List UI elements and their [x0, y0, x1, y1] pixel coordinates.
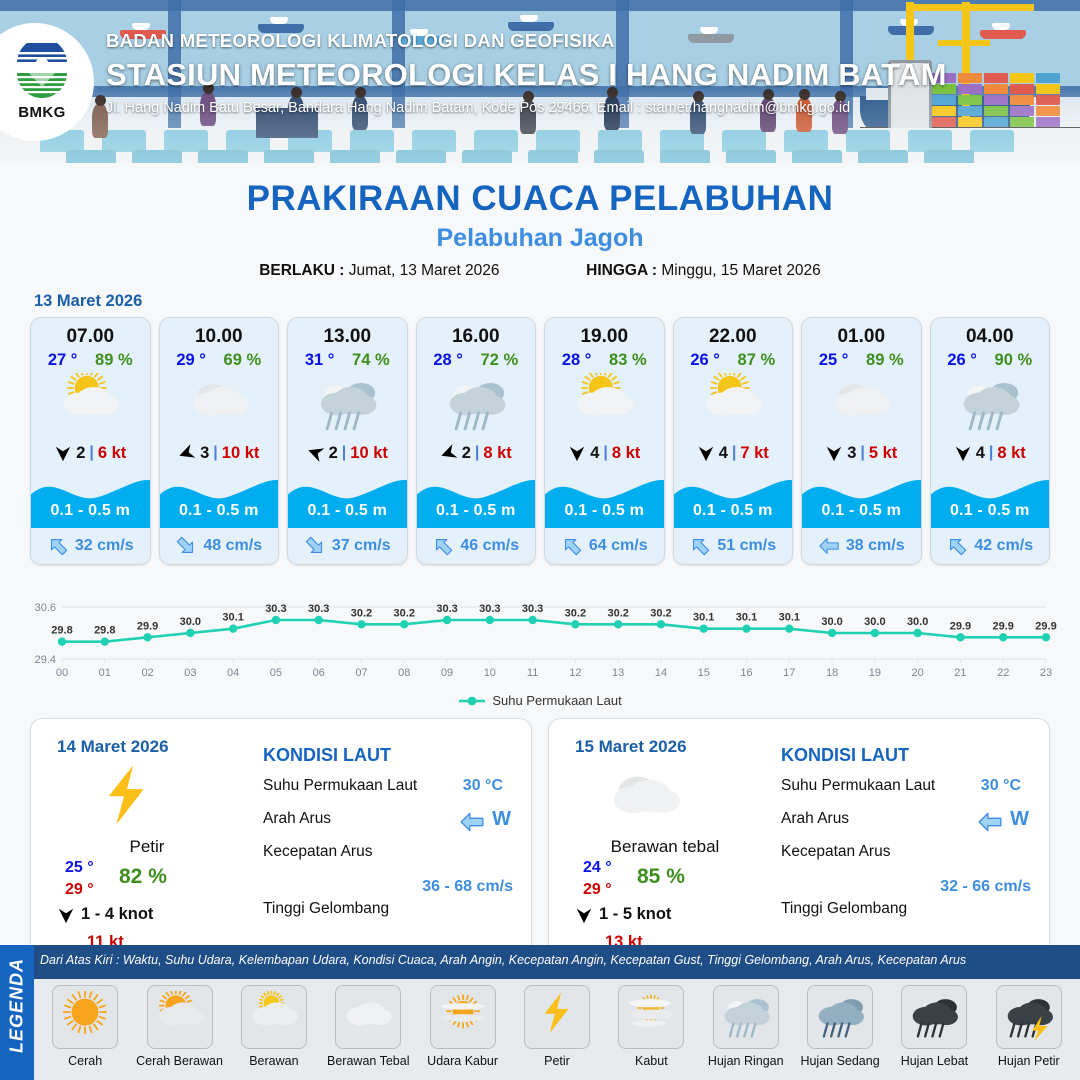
card-time: 19.00: [545, 318, 664, 350]
card-current: 32 cm/s: [31, 528, 150, 564]
svg-text:30.2: 30.2: [607, 607, 628, 619]
card-temperature: 25 °: [819, 351, 849, 370]
day-temp-max: 29 °: [583, 881, 612, 899]
current-direction-arrow-icon: [946, 535, 968, 557]
current-speed-label: Kecepatan Arus: [263, 843, 372, 860]
legend-item-label: Hujan Lebat: [901, 1054, 968, 1068]
sst-value: 30 °C: [463, 777, 503, 795]
svg-text:30.1: 30.1: [222, 612, 243, 624]
card-wave: 0.1 - 0.5 m: [545, 470, 664, 528]
svg-text:29.4: 29.4: [35, 654, 56, 666]
wave-height-row: Tinggi Gelombang: [263, 900, 517, 922]
legend-item-label: Cerah: [68, 1054, 102, 1068]
station-address: Jl. Hang Nadim Batu Besar, Bandara Hang …: [106, 100, 1066, 116]
svg-text:21: 21: [954, 667, 966, 679]
card-wind-speed: 3: [847, 444, 856, 463]
card-current: 42 cm/s: [931, 528, 1050, 564]
svg-text:14: 14: [655, 667, 667, 679]
svg-text:30.0: 30.0: [180, 616, 201, 628]
card-time: 16.00: [417, 318, 536, 350]
legend-item: Berawan: [227, 985, 321, 1068]
card-wave-height: 0.1 - 0.5 m: [31, 502, 150, 520]
current-direction-text: W: [1010, 808, 1029, 831]
card-values: 25 °89 %: [802, 350, 921, 370]
svg-text:29.8: 29.8: [51, 625, 72, 637]
current-speed-row: Kecepatan Arus: [781, 843, 1035, 865]
svg-text:09: 09: [441, 667, 453, 679]
current-direction-label: Arah Arus: [263, 810, 331, 827]
card-current-speed: 32 cm/s: [75, 537, 134, 555]
page-header: BMKG BADAN METEOROLOGI KLIMATOLOGI DAN G…: [0, 0, 1080, 163]
card-separator: |: [475, 444, 479, 462]
wave-height-label: Tinggi Gelombang: [263, 900, 389, 917]
legend-item-label: Udara Kabur: [427, 1054, 498, 1068]
wave-height-row: Tinggi Gelombang: [781, 900, 1035, 922]
card-current-speed: 38 cm/s: [846, 537, 905, 555]
wind-direction-arrow-icon: [178, 444, 196, 462]
card-temperature: 28 °: [433, 351, 463, 370]
wind-direction-arrow-icon: [54, 444, 72, 462]
valid-to-label: HINGGA :: [586, 262, 657, 279]
weather-clouds-grey-icon: [335, 985, 401, 1049]
svg-text:16: 16: [740, 667, 752, 679]
legend-item-label: Hujan Sedang: [800, 1054, 879, 1068]
card-values: 27 °89 %: [31, 350, 150, 370]
card-wind-speed: 2: [462, 444, 471, 463]
legend-item: Berawan Tebal: [321, 985, 415, 1068]
station-name: STASIUN METEOROLOGI KELAS I HANG NADIM B…: [106, 57, 1066, 93]
chart-legend-label: Suhu Permukaan Laut: [492, 693, 621, 708]
forecast-card: 22.0026 °87 %4|7 kt0.1 - 0.5 m51 cm/s: [673, 317, 794, 565]
svg-text:30.2: 30.2: [565, 607, 586, 619]
weather-sun-icon: [52, 985, 118, 1049]
day-condition: Berawan tebal: [549, 837, 781, 857]
validity-row: BERLAKU : Jumat, 13 Maret 2026 HINGGA : …: [0, 262, 1080, 280]
svg-text:30.3: 30.3: [436, 603, 457, 615]
card-humidity: 90 %: [995, 351, 1033, 370]
card-values: 29 °69 %: [160, 350, 279, 370]
weather-rain-medium-icon: [807, 985, 873, 1049]
current-direction-row: Arah ArusW: [781, 810, 1035, 832]
wave-height-label: Tinggi Gelombang: [781, 900, 907, 917]
weather-cloudy-icon: [802, 372, 921, 438]
forecast-date-label: 13 Maret 2026: [34, 292, 1080, 311]
card-wave: 0.1 - 0.5 m: [288, 470, 407, 528]
header-text-block: BADAN METEOROLOGI KLIMATOLOGI DAN GEOFIS…: [106, 30, 1066, 116]
card-temperature: 26 °: [947, 351, 977, 370]
current-speed-row: Kecepatan Arus: [263, 843, 517, 865]
card-wind: 2|8 kt: [417, 438, 536, 468]
card-time: 22.00: [674, 318, 793, 350]
card-wind: 3|10 kt: [160, 438, 279, 468]
legend-item: Kabut: [604, 985, 698, 1068]
forecast-card-strip: 07.0027 °89 %2|6 kt0.1 - 0.5 m32 cm/s10.…: [0, 317, 1080, 565]
card-separator: |: [89, 444, 93, 462]
day-humidity: 82 %: [119, 865, 167, 889]
svg-text:30.1: 30.1: [779, 612, 800, 624]
svg-text:30.0: 30.0: [907, 616, 928, 628]
card-temperature: 27 °: [48, 351, 78, 370]
sst-value: 30 °C: [981, 777, 1021, 795]
card-current-speed: 48 cm/s: [203, 537, 262, 555]
day-condition: Petir: [31, 837, 263, 857]
wind-direction-arrow-icon: [954, 444, 972, 462]
svg-text:13: 13: [612, 667, 624, 679]
day-wind-range: 1 - 5 knot: [599, 905, 671, 924]
current-direction-arrow-icon: [561, 535, 583, 557]
day-wind-range: 1 - 4 knot: [81, 905, 153, 924]
svg-text:30.3: 30.3: [265, 603, 286, 615]
current-direction-arrow-icon: [689, 535, 711, 557]
card-humidity: 74 %: [352, 351, 390, 370]
card-wind: 2|6 kt: [31, 438, 150, 468]
forecast-card: 10.0029 °69 %3|10 kt0.1 - 0.5 m48 cm/s: [159, 317, 280, 565]
svg-text:17: 17: [783, 667, 795, 679]
bmkg-logo-text: BMKG: [18, 104, 65, 121]
card-wind-speed: 4: [590, 444, 599, 463]
card-gust: 8 kt: [997, 444, 1025, 463]
legend-band-label: LEGENDA: [7, 955, 28, 1057]
card-gust: 7 kt: [740, 444, 768, 463]
legend-item: Udara Kabur: [415, 985, 509, 1068]
current-direction-row: Arah ArusW: [263, 810, 517, 832]
card-current: 38 cm/s: [802, 528, 921, 564]
chart-legend: Suhu Permukaan Laut: [0, 693, 1080, 708]
svg-text:30.0: 30.0: [864, 616, 885, 628]
wind-direction-arrow-icon: [568, 444, 586, 462]
current-direction-arrow-icon: [459, 809, 485, 831]
weather-fog-icon: [618, 985, 684, 1049]
svg-text:07: 07: [355, 667, 367, 679]
card-gust: 8 kt: [483, 444, 511, 463]
card-temperature: 26 °: [690, 351, 720, 370]
svg-text:10: 10: [484, 667, 496, 679]
legend-item-label: Hujan Petir: [998, 1054, 1060, 1068]
svg-text:06: 06: [313, 667, 325, 679]
sea-conditions-title: KONDISI LAUT: [263, 745, 517, 766]
svg-text:30.1: 30.1: [693, 612, 714, 624]
wind-direction-arrow-icon: [57, 906, 75, 924]
legend-section: LEGENDA Dari Atas Kiri : Waktu, Suhu Uda…: [0, 945, 1080, 1080]
current-direction-arrow-icon: [818, 535, 840, 557]
svg-text:30.6: 30.6: [35, 602, 56, 614]
current-direction-arrow-icon: [432, 535, 454, 557]
card-values: 26 °90 %: [931, 350, 1050, 370]
card-wave-height: 0.1 - 0.5 m: [931, 502, 1050, 520]
day-temperatures: 24 °29 °: [583, 859, 612, 899]
card-separator: |: [989, 444, 993, 462]
valid-to-value: Minggu, 15 Maret 2026: [661, 262, 820, 280]
legend-item: Cerah Berawan: [132, 985, 226, 1068]
wind-direction-arrow-icon: [307, 444, 325, 462]
current-direction-arrow-icon: [304, 535, 326, 557]
current-speed-value: 36 - 68 cm/s: [422, 878, 513, 896]
card-gust: 6 kt: [98, 444, 126, 463]
svg-text:18: 18: [826, 667, 838, 679]
svg-text:29.9: 29.9: [137, 620, 158, 632]
legend-item-label: Hujan Ringan: [708, 1054, 784, 1068]
card-current-speed: 51 cm/s: [717, 537, 776, 555]
card-humidity: 87 %: [738, 351, 776, 370]
card-temperature: 29 °: [176, 351, 206, 370]
sea-conditions: KONDISI LAUTSuhu Permukaan Laut30 °CArah…: [263, 745, 517, 922]
sst-label: Suhu Permukaan Laut: [263, 777, 417, 794]
card-current-speed: 37 cm/s: [332, 537, 391, 555]
card-values: 31 °74 %: [288, 350, 407, 370]
title-block: PRAKIRAAN CUACA PELABUHAN Pelabuhan Jago…: [0, 163, 1080, 280]
card-wind: 2|10 kt: [288, 438, 407, 468]
wind-direction-arrow-icon: [575, 906, 593, 924]
legend-item: Hujan Sedang: [793, 985, 887, 1068]
sst-row: Suhu Permukaan Laut30 °C: [263, 777, 517, 799]
current-speed-label: Kecepatan Arus: [781, 843, 890, 860]
card-gust: 5 kt: [869, 444, 897, 463]
card-wind-speed: 3: [200, 444, 209, 463]
day-humidity: 85 %: [637, 865, 685, 889]
weather-rain-light-icon: [931, 372, 1050, 438]
card-separator: |: [603, 444, 607, 462]
card-gust: 8 kt: [612, 444, 640, 463]
sea-conditions: KONDISI LAUTSuhu Permukaan Laut30 °CArah…: [781, 745, 1035, 922]
card-values: 28 °83 %: [545, 350, 664, 370]
card-humidity: 89 %: [95, 351, 133, 370]
sst-chart-plot: 30.629.400010203040506070809101112131415…: [18, 585, 1062, 685]
daily-summary-panels: 14 Maret 2026Petir25 °29 °82 %1 - 4 knot…: [0, 708, 1080, 966]
card-temperature: 31 °: [305, 351, 335, 370]
svg-text:29.9: 29.9: [993, 620, 1014, 632]
svg-text:30.3: 30.3: [479, 603, 500, 615]
day-temp-min: 25 °: [65, 859, 94, 877]
day-wind: 1 - 5 knot: [575, 905, 671, 924]
current-direction-value: W: [977, 808, 1029, 831]
svg-text:22: 22: [997, 667, 1009, 679]
svg-text:04: 04: [227, 667, 239, 679]
card-wind-speed: 2: [329, 444, 338, 463]
card-time: 07.00: [31, 318, 150, 350]
card-time: 13.00: [288, 318, 407, 350]
weather-rain-light-icon: [713, 985, 779, 1049]
current-speed-value-row: 32 - 66 cm/s: [781, 876, 1035, 882]
card-wind: 4|8 kt: [931, 438, 1050, 468]
card-wave: 0.1 - 0.5 m: [417, 470, 536, 528]
svg-text:12: 12: [569, 667, 581, 679]
card-gust: 10 kt: [350, 444, 388, 463]
card-wind-speed: 4: [976, 444, 985, 463]
current-direction-arrow-icon: [175, 535, 197, 557]
card-wave-height: 0.1 - 0.5 m: [545, 502, 664, 520]
card-values: 26 °87 %: [674, 350, 793, 370]
card-time: 10.00: [160, 318, 279, 350]
svg-text:15: 15: [698, 667, 710, 679]
card-wave: 0.1 - 0.5 m: [802, 470, 921, 528]
legend-item: Hujan Ringan: [699, 985, 793, 1068]
legend-items: CerahCerah BerawanBerawanBerawan TebalUd…: [34, 979, 1080, 1080]
legend-band: LEGENDA: [0, 945, 34, 1080]
weather-partly-cloudy-icon: [31, 372, 150, 438]
card-time: 04.00: [931, 318, 1050, 350]
svg-text:08: 08: [398, 667, 410, 679]
svg-text:05: 05: [270, 667, 282, 679]
card-current: 48 cm/s: [160, 528, 279, 564]
wind-direction-arrow-icon: [697, 444, 715, 462]
forecast-card: 13.0031 °74 %2|10 kt0.1 - 0.5 m37 cm/s: [287, 317, 408, 565]
weather-lightning-icon: [83, 761, 171, 843]
legend-item: Hujan Petir: [982, 985, 1076, 1068]
chart-legend-marker: [458, 695, 486, 707]
card-wave-height: 0.1 - 0.5 m: [160, 502, 279, 520]
svg-text:01: 01: [99, 667, 111, 679]
card-current-speed: 42 cm/s: [974, 537, 1033, 555]
weather-cloudy-icon: [160, 372, 279, 438]
day-temp-max: 29 °: [65, 881, 94, 899]
svg-text:00: 00: [56, 667, 68, 679]
weather-cloud-sun-small-icon: [241, 985, 307, 1049]
svg-text:02: 02: [141, 667, 153, 679]
day-wind: 1 - 4 knot: [57, 905, 153, 924]
svg-text:29.9: 29.9: [1035, 620, 1056, 632]
svg-text:30.2: 30.2: [650, 607, 671, 619]
day-date: 15 Maret 2026: [575, 737, 687, 757]
card-wind-speed: 4: [719, 444, 728, 463]
bmkg-logo-icon: [11, 43, 73, 103]
card-wave: 0.1 - 0.5 m: [931, 470, 1050, 528]
svg-text:29.8: 29.8: [94, 625, 115, 637]
day-temp-min: 24 °: [583, 859, 612, 877]
legend-item-label: Berawan: [249, 1054, 298, 1068]
forecast-card: 01.0025 °89 %3|5 kt0.1 - 0.5 m38 cm/s: [801, 317, 922, 565]
card-separator: |: [732, 444, 736, 462]
card-current-speed: 46 cm/s: [460, 537, 519, 555]
valid-from-value: Jumat, 13 Maret 2026: [349, 262, 500, 280]
card-time: 01.00: [802, 318, 921, 350]
weather-lightning-icon: [524, 985, 590, 1049]
card-humidity: 69 %: [224, 351, 262, 370]
card-wave-height: 0.1 - 0.5 m: [802, 502, 921, 520]
forecast-card: 16.0028 °72 %2|8 kt0.1 - 0.5 m46 cm/s: [416, 317, 537, 565]
forecast-card: 04.0026 °90 %4|8 kt0.1 - 0.5 m42 cm/s: [930, 317, 1051, 565]
card-wind: 4|8 kt: [545, 438, 664, 468]
legend-item: Hujan Lebat: [887, 985, 981, 1068]
card-gust: 10 kt: [222, 444, 260, 463]
weather-rain-light-icon: [417, 372, 536, 438]
weather-sun-cloud-icon: [147, 985, 213, 1049]
valid-from-label: BERLAKU :: [259, 262, 344, 279]
legend-item: Cerah: [38, 985, 132, 1068]
current-direction-arrow-icon: [977, 809, 1003, 831]
weather-cloudy-thick-icon: [601, 761, 689, 843]
svg-text:30.2: 30.2: [394, 607, 415, 619]
card-current: 46 cm/s: [417, 528, 536, 564]
card-wave: 0.1 - 0.5 m: [160, 470, 279, 528]
svg-text:11: 11: [527, 667, 538, 679]
weather-haze-icon: [430, 985, 496, 1049]
card-temperature: 28 °: [562, 351, 592, 370]
legend-item-label: Petir: [544, 1054, 570, 1068]
day-summary-panel: 15 Maret 2026Berawan tebal24 °29 °85 %1 …: [548, 718, 1050, 966]
weather-rain-light-icon: [288, 372, 407, 438]
card-humidity: 83 %: [609, 351, 647, 370]
sst-chart: 30.629.400010203040506070809101112131415…: [0, 579, 1080, 691]
day-date: 14 Maret 2026: [57, 737, 169, 757]
card-wind: 3|5 kt: [802, 438, 921, 468]
page-title: PRAKIRAAN CUACA PELABUHAN: [0, 179, 1080, 219]
legend-item-label: Kabut: [635, 1054, 668, 1068]
svg-text:19: 19: [869, 667, 881, 679]
current-direction-arrow-icon: [47, 535, 69, 557]
svg-text:30.3: 30.3: [522, 603, 543, 615]
current-speed-value: 32 - 66 cm/s: [940, 878, 1031, 896]
legend-item-label: Berawan Tebal: [327, 1054, 409, 1068]
svg-text:29.9: 29.9: [950, 620, 971, 632]
weather-rain-heavy-icon: [901, 985, 967, 1049]
card-humidity: 89 %: [866, 351, 904, 370]
day-summary-panel: 14 Maret 2026Petir25 °29 °82 %1 - 4 knot…: [30, 718, 532, 966]
current-direction-value: W: [459, 808, 511, 831]
card-wave-height: 0.1 - 0.5 m: [417, 502, 536, 520]
card-current-speed: 64 cm/s: [589, 537, 648, 555]
svg-text:30.3: 30.3: [308, 603, 329, 615]
card-current: 51 cm/s: [674, 528, 793, 564]
day-temperatures: 25 °29 °: [65, 859, 94, 899]
card-wind-speed: 2: [76, 444, 85, 463]
card-wind: 4|7 kt: [674, 438, 793, 468]
sst-label: Suhu Permukaan Laut: [781, 777, 935, 794]
card-wave: 0.1 - 0.5 m: [674, 470, 793, 528]
sst-row: Suhu Permukaan Laut30 °C: [781, 777, 1035, 799]
card-separator: |: [342, 444, 346, 462]
card-humidity: 72 %: [481, 351, 519, 370]
forecast-card: 19.0028 °83 %4|8 kt0.1 - 0.5 m64 cm/s: [544, 317, 665, 565]
forecast-card: 07.0027 °89 %2|6 kt0.1 - 0.5 m32 cm/s: [30, 317, 151, 565]
card-values: 28 °72 %: [417, 350, 536, 370]
wind-direction-arrow-icon: [825, 444, 843, 462]
current-direction-text: W: [492, 808, 511, 831]
svg-text:30.2: 30.2: [351, 607, 372, 619]
weather-rain-thunder-icon: [996, 985, 1062, 1049]
agency-name: BADAN METEOROLOGI KLIMATOLOGI DAN GEOFIS…: [106, 30, 1066, 52]
card-separator: |: [213, 444, 217, 462]
card-current: 37 cm/s: [288, 528, 407, 564]
port-name: Pelabuhan Jagoh: [0, 224, 1080, 253]
current-direction-label: Arah Arus: [781, 810, 849, 827]
card-current: 64 cm/s: [545, 528, 664, 564]
svg-text:30.0: 30.0: [821, 616, 842, 628]
svg-text:03: 03: [184, 667, 196, 679]
card-wave-height: 0.1 - 0.5 m: [288, 502, 407, 520]
svg-text:30.1: 30.1: [736, 612, 757, 624]
weather-partly-cloudy-icon: [674, 372, 793, 438]
current-speed-value-row: 36 - 68 cm/s: [263, 876, 517, 882]
card-wave: 0.1 - 0.5 m: [31, 470, 150, 528]
legend-item-label: Cerah Berawan: [136, 1054, 223, 1068]
sea-conditions-title: KONDISI LAUT: [781, 745, 1035, 766]
legend-item: Petir: [510, 985, 604, 1068]
card-separator: |: [860, 444, 864, 462]
legend-note: Dari Atas Kiri : Waktu, Suhu Udara, Kele…: [40, 953, 1076, 967]
card-wave-height: 0.1 - 0.5 m: [674, 502, 793, 520]
weather-partly-cloudy-icon: [545, 372, 664, 438]
svg-text:23: 23: [1040, 667, 1052, 679]
wind-direction-arrow-icon: [440, 444, 458, 462]
svg-text:20: 20: [912, 667, 924, 679]
